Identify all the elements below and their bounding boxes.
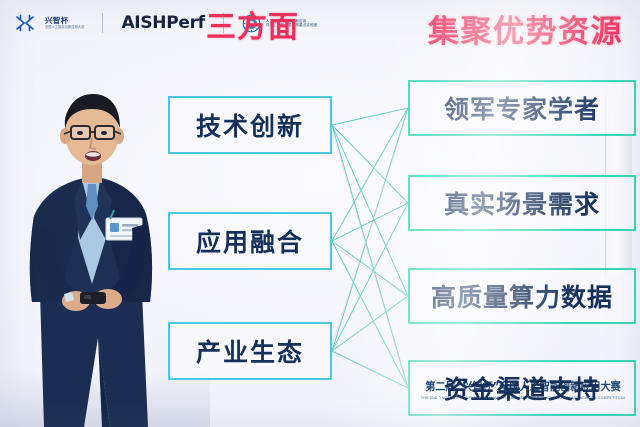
node-real-scenario-demand[interactable]: 真实场景需求 <box>408 175 636 231</box>
node-application-integration[interactable]: 应用融合 <box>168 212 332 270</box>
slide-title-right: 集聚优势资源 <box>428 6 623 51</box>
logo-divider-1 <box>102 13 103 33</box>
slide-title-left: 三方面 <box>206 2 299 46</box>
node-label: 应用融合 <box>196 223 304 259</box>
node-label: 资金渠道支持 <box>444 370 600 406</box>
node-label: 高质量算力数据 <box>431 278 613 314</box>
node-label: 产业生态 <box>196 333 304 369</box>
node-industry-ecosystem[interactable]: 产业生态 <box>168 322 332 380</box>
xingzhibei-subtitle: 全国人工智能创新应用大赛 <box>45 26 84 29</box>
node-technology-innovation[interactable]: 技术创新 <box>168 96 332 154</box>
node-high-quality-compute-data[interactable]: 高质量算力数据 <box>408 268 636 324</box>
xingzhibei-logo-icon <box>14 12 36 34</box>
node-funding-channel-support[interactable]: 资金渠道支持 <box>408 360 636 416</box>
xingzhibei-title: 兴智杯 <box>45 17 84 25</box>
node-label: 真实场景需求 <box>444 185 600 221</box>
screenshot-stage: 兴智杯 全国人工智能创新应用大赛 AISHPerf <box>0 0 640 427</box>
aishperf-wordmark: AISHPerf <box>121 13 204 33</box>
xingzhibei-logo-text: 兴智杯 全国人工智能创新应用大赛 <box>45 17 84 30</box>
node-label: 领军专家学者 <box>444 90 600 126</box>
node-label: 技术创新 <box>196 107 304 143</box>
speaker-figure <box>14 88 184 427</box>
node-leading-experts[interactable]: 领军专家学者 <box>408 80 636 136</box>
